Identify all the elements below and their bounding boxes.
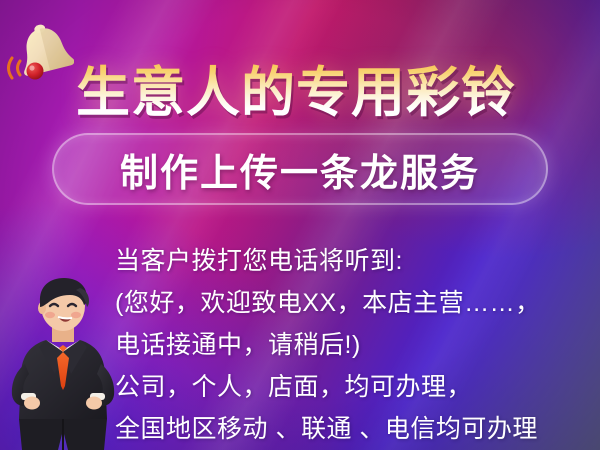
bell-icon (6, 20, 74, 90)
subtitle-pill-label: 制作上传一条龙服务 (120, 142, 480, 197)
promo-poster: 生意人的专用彩铃 制作上传一条龙服务 当客户拨打您电话将听到: (您好，欢迎致电… (0, 0, 600, 450)
body-line: 公司，个人，店面，均可办理， (115, 366, 595, 408)
businessman-illustration (2, 272, 124, 450)
body-line: (您好，欢迎致电XX，本店主营……， (115, 282, 595, 324)
header: 生意人的专用彩铃 (0, 18, 600, 96)
body-line: 全国地区移动 、联通 、电信均可办理 (115, 408, 595, 450)
subtitle-pill: 制作上传一条龙服务 (52, 133, 548, 205)
body-copy: 当客户拨打您电话将听到: (您好，欢迎致电XX，本店主营……， 电话接通中，请稍… (115, 240, 595, 450)
page-title: 生意人的专用彩铃 (76, 60, 590, 126)
body-line: 电话接通中，请稍后!) (115, 324, 595, 366)
body-line: 当客户拨打您电话将听到: (115, 240, 595, 282)
